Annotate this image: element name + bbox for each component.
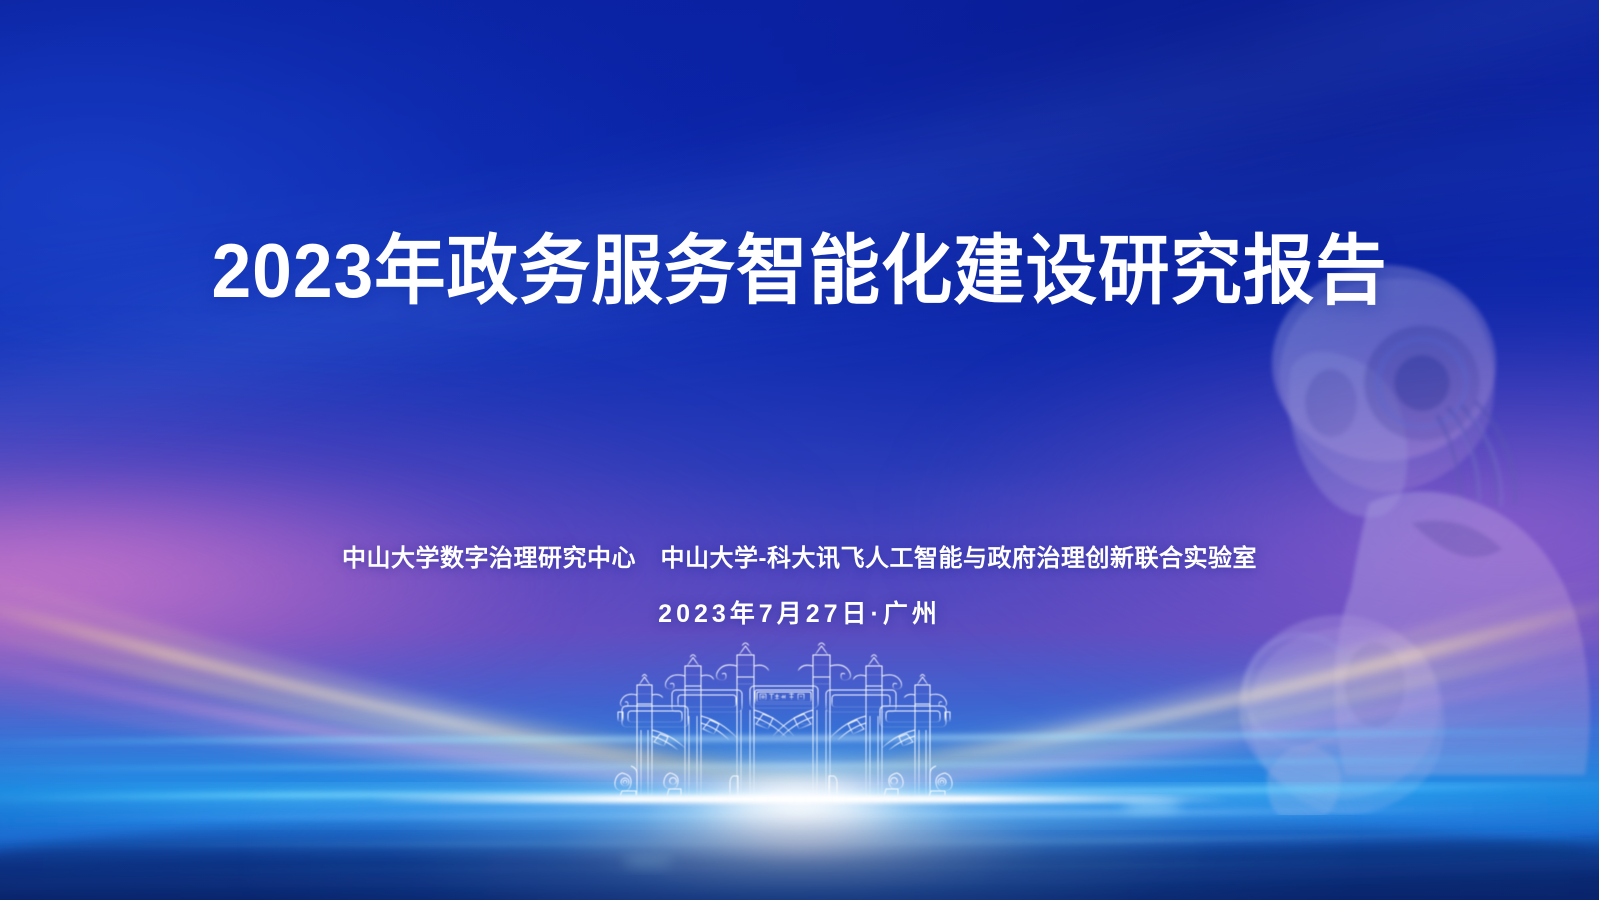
page-title: 2023年政务服务智能化建设研究报告 [48, 232, 1551, 312]
organization-subtitle: 中山大学数字治理研究中心 中山大学-科大讯飞人工智能与政府治理创新联合实验室 [0, 538, 1599, 573]
presentation-title-slide: 2023年政务服务智能化建设研究报告 中山大学数字治理研究中心 中山大学-科大讯… [0, 0, 1599, 900]
date-location-line: 2023年7月27日·广州 [0, 594, 1599, 630]
vignette-overlay [0, 0, 1599, 900]
